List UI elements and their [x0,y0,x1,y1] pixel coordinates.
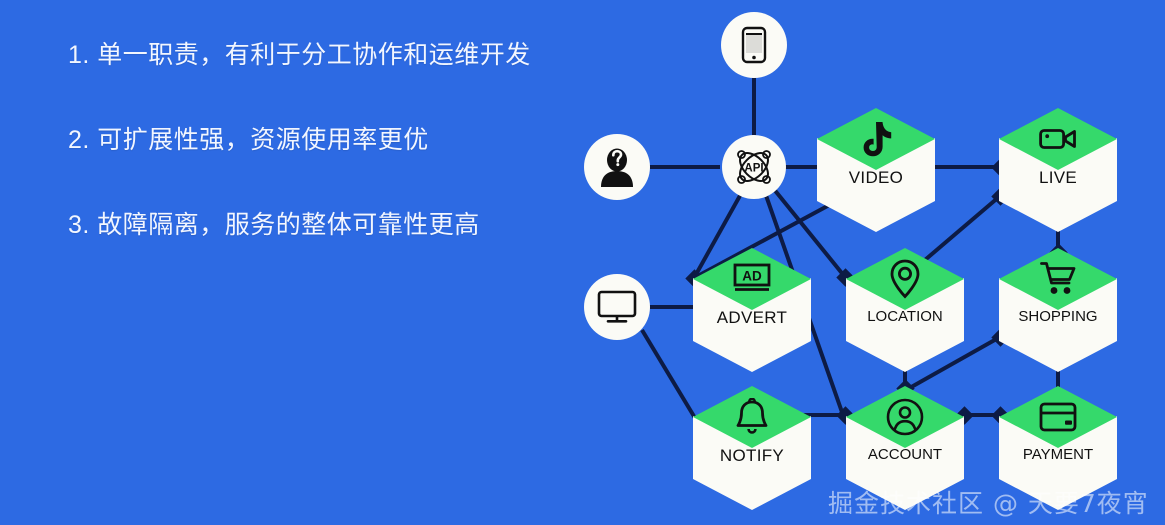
person-circle-icon [886,398,924,436]
node-live[interactable]: LIVE [999,108,1117,232]
node-label: VIDEO [817,168,935,188]
smartphone-icon [741,26,767,64]
node-user[interactable] [584,134,650,200]
node-location[interactable]: LOCATION [846,248,964,372]
node-label: NOTIFY [693,446,811,466]
node-label: ADVERT [693,308,811,328]
bullet-list: 1. 单一职责，有利于分工协作和运维开发 2. 可扩展性强，资源使用率更优 3.… [68,40,568,295]
node-label: LIVE [999,168,1117,188]
node-label: PAYMENT [999,446,1117,463]
watermark: 掘金技术社区 @ 天要7夜宵 [828,484,1149,520]
bullet-item-1: 1. 单一职责，有利于分工协作和运维开发 [68,40,568,70]
music-note-icon [860,121,892,157]
credit-card-icon [1039,402,1077,432]
bullet-item-3: 3. 故障隔离，服务的整体可靠性更高 [68,210,568,240]
api-label: API [744,163,763,175]
shopping-cart-icon [1040,261,1076,297]
ad-monitor-icon: AD [733,263,771,295]
bullet-item-2: 2. 可扩展性强，资源使用率更优 [68,125,568,155]
edge-monitor-notify [642,330,695,418]
slide-canvas: 1. 单一职责，有利于分工协作和运维开发 2. 可扩展性强，资源使用率更优 3.… [0,0,1165,525]
anonymous-user-icon [598,147,636,187]
video-camera-icon [1039,126,1077,152]
map-pin-icon [890,259,920,299]
node-api[interactable]: API [722,135,786,199]
node-label: SHOPPING [999,308,1117,325]
node-phone[interactable] [721,12,787,78]
api-atom-icon: API [729,142,779,192]
node-label: LOCATION [846,308,964,325]
node-label: ACCOUNT [846,446,964,463]
node-video[interactable]: VIDEO [817,108,935,232]
desktop-monitor-icon [597,290,637,324]
node-monitor[interactable] [584,274,650,340]
node-shopping[interactable]: SHOPPING [999,248,1117,372]
architecture-diagram: API VIDEO [560,0,1165,525]
node-notify[interactable]: NOTIFY [693,386,811,510]
node-advert[interactable]: AD ADVERT [693,248,811,372]
bell-icon [735,398,769,436]
svg-text:AD: AD [742,269,762,284]
